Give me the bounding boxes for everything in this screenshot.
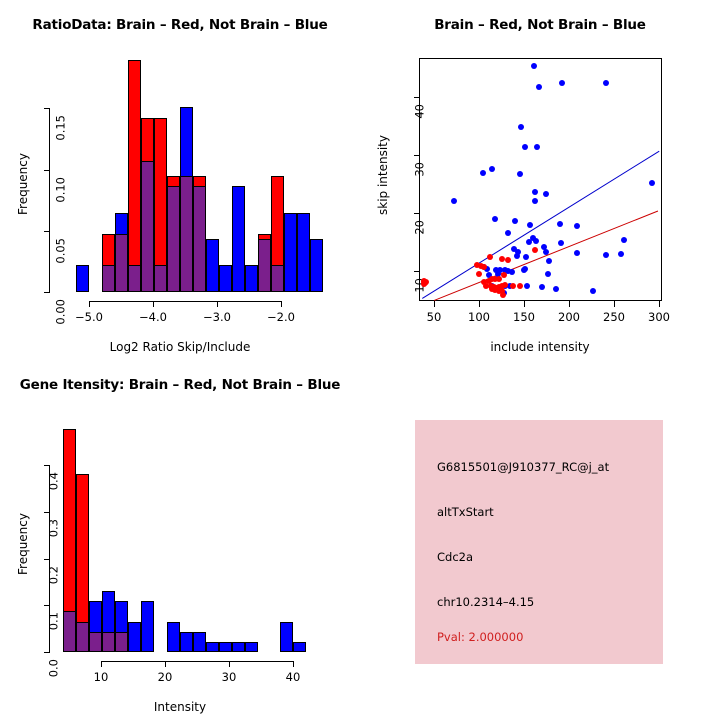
scatter-point-not-brain bbox=[590, 288, 596, 294]
bar-blue bbox=[76, 265, 89, 292]
bar-blue bbox=[193, 632, 206, 652]
scatter-point-brain bbox=[499, 256, 505, 262]
scatter-point-brain bbox=[502, 282, 508, 288]
scatter-point-not-brain bbox=[539, 284, 545, 290]
scatter-point-not-brain bbox=[526, 239, 532, 245]
bar-purple bbox=[167, 186, 180, 292]
scatter-point-brain bbox=[501, 272, 507, 278]
bar-blue bbox=[232, 186, 245, 292]
bar-purple bbox=[115, 234, 128, 292]
scatter-point-brain bbox=[487, 254, 493, 260]
scatter-point-brain bbox=[510, 283, 516, 289]
bar-blue bbox=[141, 601, 154, 652]
scatter-point-brain bbox=[421, 281, 427, 287]
bar-blue bbox=[180, 632, 193, 652]
scatter-point-not-brain bbox=[492, 216, 498, 222]
scatter-point-not-brain bbox=[558, 240, 564, 246]
scatter-point-not-brain bbox=[536, 84, 542, 90]
bar-red bbox=[128, 60, 141, 292]
scatter-point-not-brain bbox=[522, 266, 528, 272]
info-event-type: altTxStart bbox=[437, 505, 494, 519]
scatter-point-brain bbox=[505, 257, 511, 263]
scatter-point-brain bbox=[500, 292, 506, 298]
bar-blue bbox=[245, 265, 258, 292]
bar-purple bbox=[102, 632, 115, 652]
scatter-point-not-brain bbox=[543, 249, 549, 255]
scatter-point-not-brain bbox=[518, 124, 524, 130]
bar-purple bbox=[141, 161, 154, 292]
bar-blue bbox=[284, 213, 297, 292]
scatter-point-not-brain bbox=[527, 222, 533, 228]
bar-purple bbox=[128, 265, 141, 292]
bar-blue bbox=[206, 642, 219, 652]
bar-blue bbox=[293, 642, 306, 652]
scatter-point-not-brain bbox=[574, 250, 580, 256]
bar-blue bbox=[280, 622, 293, 652]
panel-gene-info: G6815501@J910377_RC@j_at altTxStart Cdc2… bbox=[360, 360, 720, 720]
bar-purple bbox=[63, 611, 76, 652]
bar-purple bbox=[271, 265, 284, 292]
scatter-point-not-brain bbox=[649, 180, 655, 186]
info-pval: Pval: 2.000000 bbox=[437, 630, 523, 644]
ratio-histogram-bars bbox=[0, 0, 360, 360]
scatter-point-not-brain bbox=[557, 221, 563, 227]
bar-blue bbox=[297, 213, 310, 292]
bar-blue bbox=[310, 239, 323, 292]
bar-blue bbox=[219, 265, 232, 292]
scatter-point-not-brain bbox=[480, 170, 486, 176]
bar-blue bbox=[232, 642, 245, 652]
scatter-point-not-brain bbox=[532, 189, 538, 195]
bar-purple bbox=[115, 632, 128, 652]
scatter-point-brain bbox=[532, 247, 538, 253]
bar-blue bbox=[219, 642, 232, 652]
scatter-point-not-brain bbox=[574, 223, 580, 229]
bar-blue bbox=[128, 622, 141, 652]
scatter-point-not-brain bbox=[489, 166, 495, 172]
scatter-point-not-brain bbox=[522, 144, 528, 150]
scatter-point-not-brain bbox=[512, 218, 518, 224]
scatter-point-not-brain bbox=[523, 254, 529, 260]
bar-blue bbox=[167, 622, 180, 652]
scatter-point-not-brain bbox=[553, 286, 559, 292]
scatter-point-not-brain bbox=[545, 271, 551, 277]
scatter-point-not-brain bbox=[524, 283, 530, 289]
scatter-point-not-brain bbox=[509, 269, 515, 275]
scatter-point-not-brain bbox=[618, 251, 624, 257]
scatter-point-not-brain bbox=[603, 252, 609, 258]
scatter-point-not-brain bbox=[531, 63, 537, 69]
scatter-point-not-brain bbox=[451, 198, 457, 204]
figure-canvas: RatioData: Brain – Red, Not Brain – Blue… bbox=[0, 0, 720, 720]
info-probe-id: G6815501@J910377_RC@j_at bbox=[437, 460, 609, 474]
scatter-point-not-brain bbox=[532, 198, 538, 204]
bar-purple bbox=[180, 176, 193, 292]
gene-histogram-bars bbox=[0, 360, 360, 720]
scatter-point-not-brain bbox=[514, 253, 520, 259]
bar-purple bbox=[102, 265, 115, 292]
scatter-data-layer bbox=[360, 0, 720, 360]
bar-purple bbox=[154, 265, 167, 292]
info-gene-symbol: Cdc2a bbox=[437, 550, 473, 564]
bar-blue bbox=[245, 642, 258, 652]
bar-purple bbox=[258, 239, 271, 292]
bar-purple bbox=[76, 622, 89, 652]
bar-blue bbox=[206, 239, 219, 292]
scatter-point-not-brain bbox=[621, 237, 627, 243]
scatter-point-brain bbox=[481, 264, 487, 270]
scatter-point-not-brain bbox=[543, 191, 549, 197]
panel-gene-histogram: Gene Itensity: Brain – Red, Not Brain – … bbox=[0, 360, 360, 720]
gene-info-box: G6815501@J910377_RC@j_at altTxStart Cdc2… bbox=[415, 420, 663, 664]
scatter-point-not-brain bbox=[559, 80, 565, 86]
scatter-point-not-brain bbox=[603, 80, 609, 86]
scatter-point-not-brain bbox=[533, 238, 539, 244]
scatter-point-not-brain bbox=[534, 144, 540, 150]
scatter-point-not-brain bbox=[517, 171, 523, 177]
info-locus: chr10.2314–4.15 bbox=[437, 595, 534, 609]
panel-ratio-histogram: RatioData: Brain – Red, Not Brain – Blue… bbox=[0, 0, 360, 360]
regression-line bbox=[434, 210, 658, 300]
scatter-point-brain bbox=[476, 271, 482, 277]
bar-purple bbox=[89, 632, 102, 652]
scatter-point-not-brain bbox=[505, 230, 511, 236]
scatter-point-brain bbox=[517, 283, 523, 289]
panel-scatter-plot: Brain – Red, Not Brain – Blue skip inten… bbox=[360, 0, 720, 360]
bar-purple bbox=[193, 186, 206, 292]
scatter-point-not-brain bbox=[546, 258, 552, 264]
